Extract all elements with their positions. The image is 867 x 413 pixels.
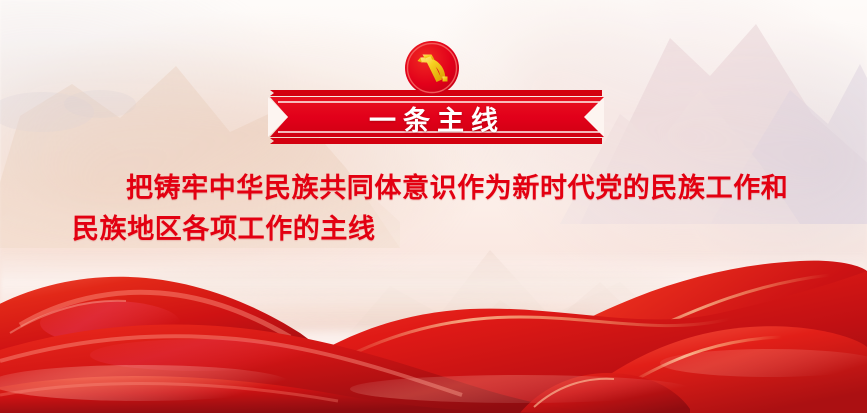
poster-canvas: 一条主线 把铸牢中华民族共同体意识作为新时代党的民族工作和民族地区各项工作的主线 [0,0,867,413]
cpc-emblem-icon [404,40,460,96]
headline-text: 把铸牢中华民族共同体意识作为新时代党的民族工作和民族地区各项工作的主线 [72,168,802,250]
ribbon-title-text: 一条主线 [0,98,867,138]
